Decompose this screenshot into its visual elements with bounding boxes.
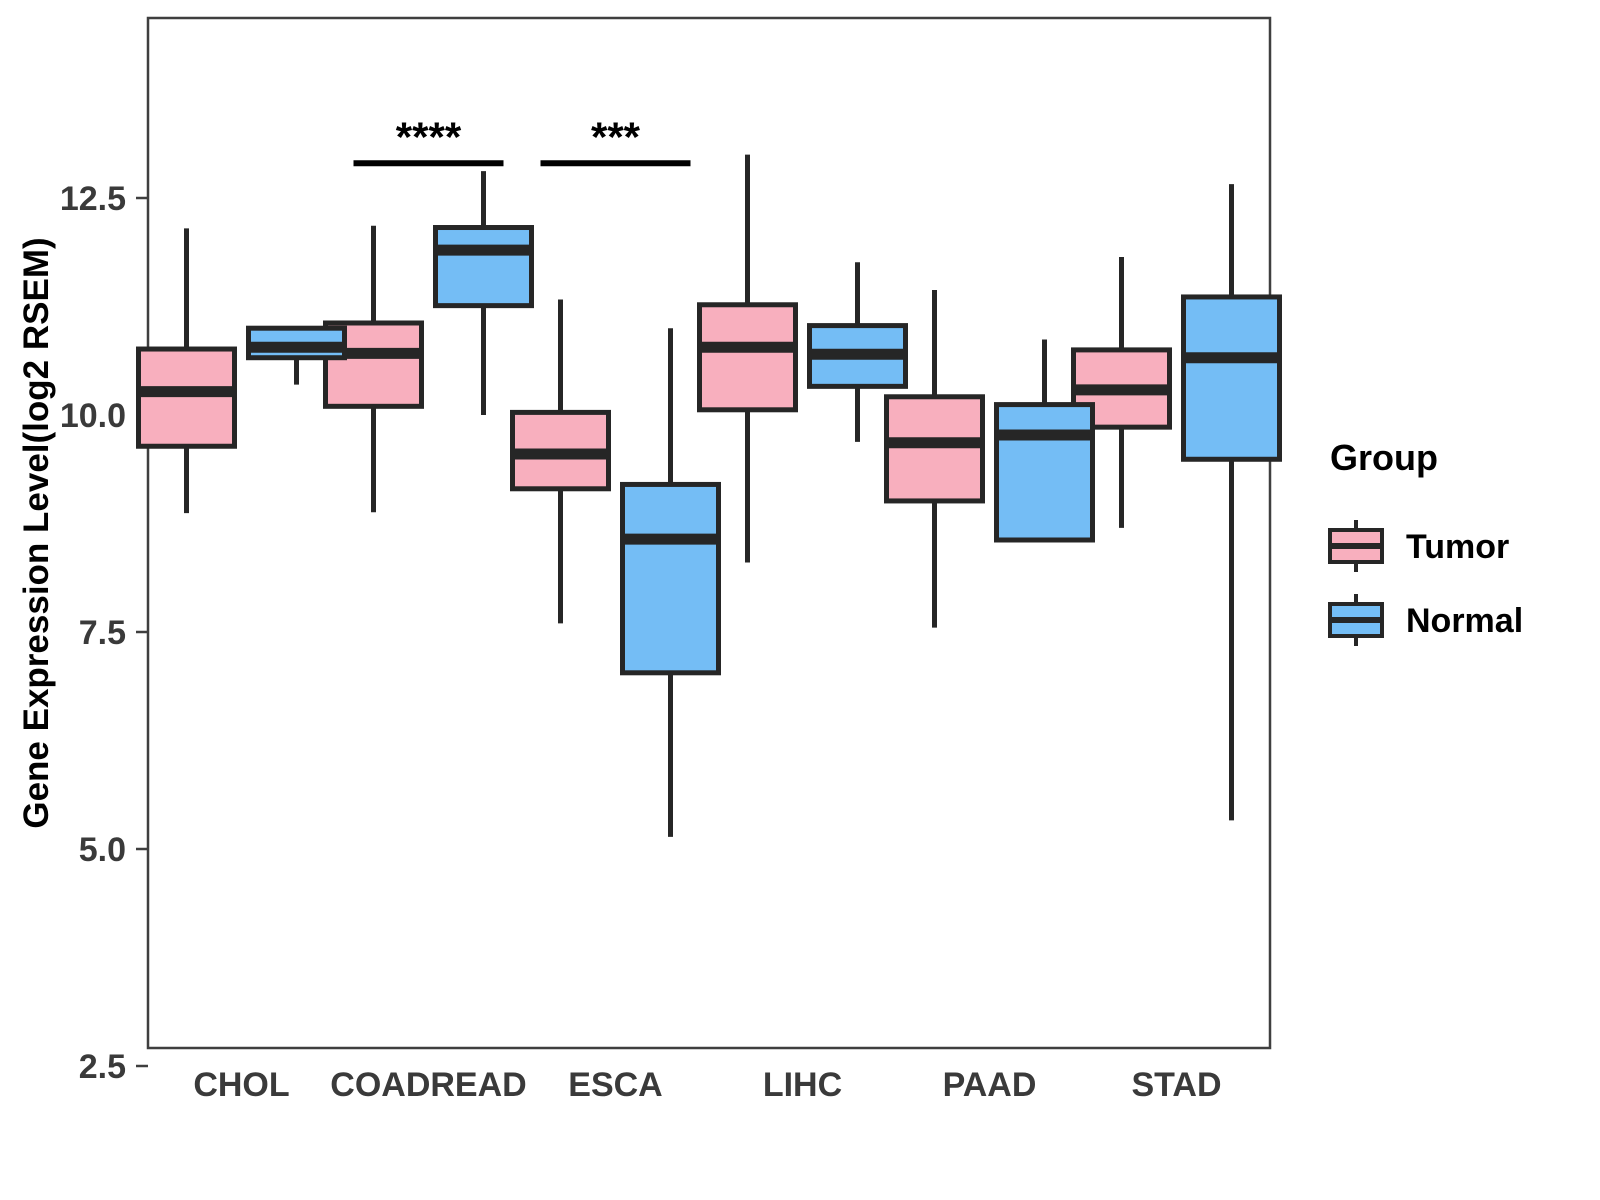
x-tick-label-esca: ESCA: [568, 1066, 662, 1104]
chart-background: [0, 0, 1600, 1200]
y-tick-label: 12.5: [60, 180, 126, 218]
legend-title: Group: [1330, 437, 1438, 478]
boxplot-chart: Gene Expression Level(log2 RSEM) 2.55.07…: [0, 0, 1600, 1200]
box-rect: [623, 484, 719, 672]
x-tick-label-coadread: COADREAD: [330, 1066, 526, 1104]
y-tick-label: 2.5: [79, 1048, 126, 1086]
significance-label: ****: [396, 113, 462, 160]
legend-item-tumor[interactable]: Tumor: [1330, 520, 1509, 572]
chart-root: Gene Expression Level(log2 RSEM) 2.55.07…: [0, 0, 1600, 1200]
x-tick-label-chol: CHOL: [193, 1066, 289, 1104]
y-tick-label: 10.0: [60, 397, 126, 435]
box-rect: [1184, 297, 1280, 459]
y-axis-title: Gene Expression Level(log2 RSEM): [17, 237, 56, 828]
legend-label: Normal: [1406, 602, 1523, 640]
box-rect: [436, 228, 532, 306]
box-rect: [997, 405, 1093, 540]
significance-label: ***: [591, 113, 641, 160]
x-tick-label-paad: PAAD: [943, 1066, 1037, 1104]
box-rect: [887, 397, 983, 501]
box-rect: [700, 305, 796, 410]
y-tick-label: 5.0: [79, 831, 126, 869]
x-tick-label-lihc: LIHC: [763, 1066, 842, 1104]
y-tick-label: 7.5: [79, 614, 126, 652]
box-rect: [139, 349, 235, 446]
legend-label: Tumor: [1406, 528, 1509, 566]
x-tick-label-stad: STAD: [1131, 1066, 1221, 1104]
